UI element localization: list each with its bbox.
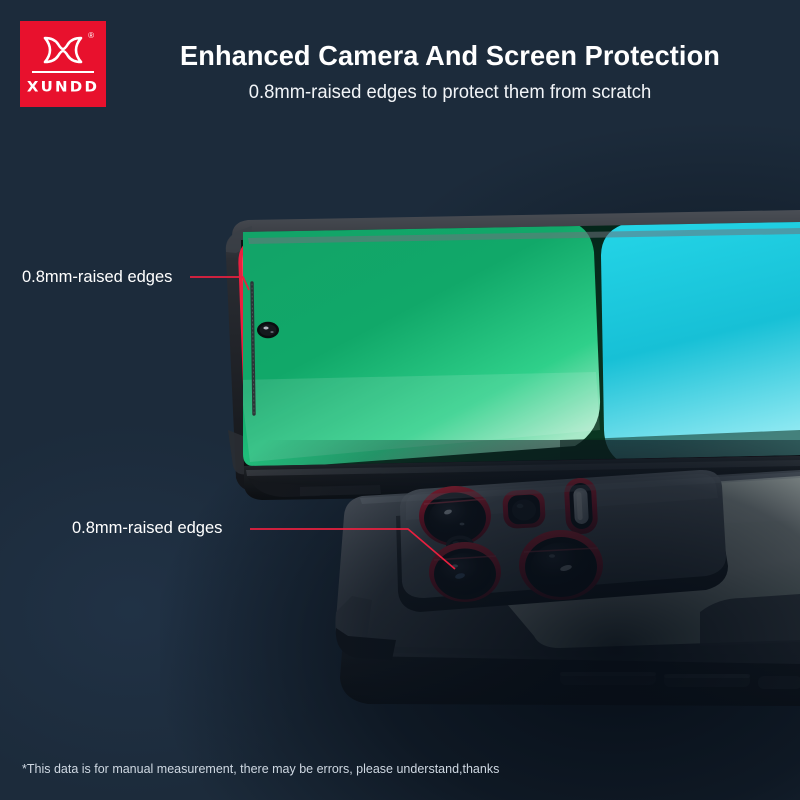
xundd-logo: ® XUNDD [20, 21, 106, 107]
page-title: Enhanced Camera And Screen Protection [140, 40, 761, 72]
butterfly-x-icon [36, 35, 90, 65]
page-subtitle: 0.8mm-raised edges to protect them from … [140, 82, 761, 104]
phone-back-camera-view [335, 470, 800, 706]
annotation-label-screen-edge: 0.8mm-raised edges [22, 268, 172, 287]
registered-trademark-icon: ® [88, 32, 94, 40]
logo-wordmark: XUNDD [27, 78, 99, 95]
phone-front-screen-view [226, 210, 800, 500]
logo-divider [32, 71, 94, 73]
disclaimer-note: *This data is for manual measurement, th… [22, 762, 499, 776]
camera-lens-bottom-right [519, 530, 603, 600]
camera-lens-raised-ring [429, 542, 501, 602]
product-illustration [0, 0, 800, 800]
xundd-logo-mark: ® [36, 35, 90, 65]
product-marketing-banner: ® XUNDD Enhanced Camera And Screen Prote… [0, 0, 800, 800]
punch-hole-camera [257, 322, 279, 338]
annotation-label-camera-edge: 0.8mm-raised edges [72, 519, 222, 538]
